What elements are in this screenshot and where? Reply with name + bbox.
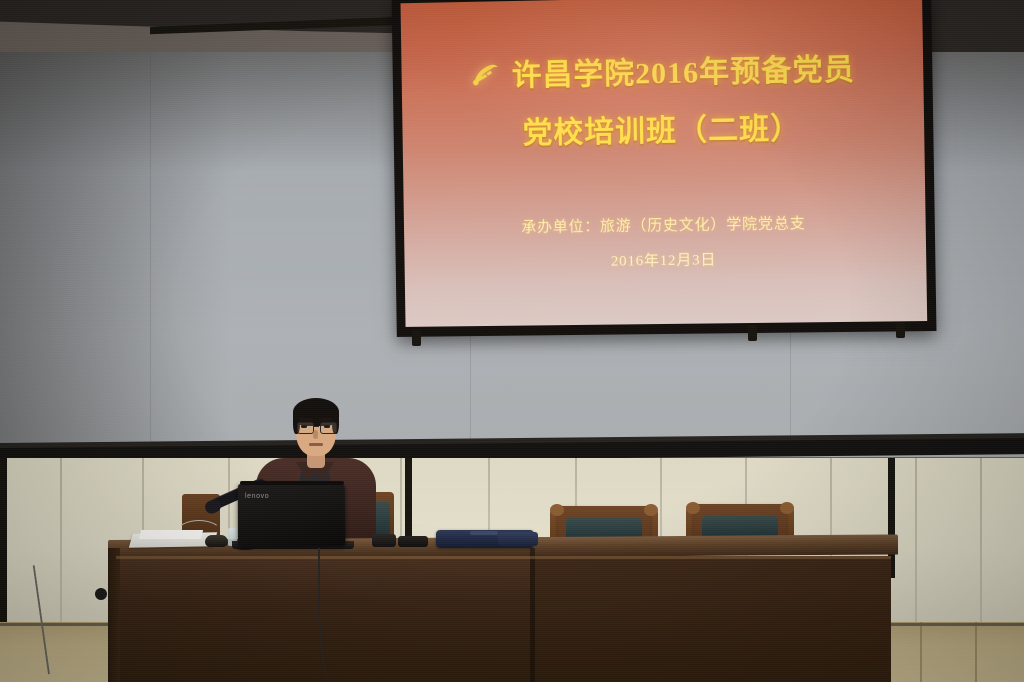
screen-mount-right: [896, 322, 905, 338]
screen-glare: [401, 0, 928, 327]
blue-bag-second: [498, 532, 538, 546]
computer-mouse: [205, 535, 228, 547]
chair-cap-left: [550, 504, 564, 516]
presenter-desk-left-side: [108, 548, 120, 682]
screen-mount-left: [412, 330, 421, 346]
presenter-remote[interactable]: [372, 534, 396, 547]
cable-connector: [95, 588, 107, 600]
presenter-nose: [313, 430, 318, 439]
blue-bag-strap: [470, 531, 498, 535]
projection-screen: 许昌学院2016年预备党员 党校培训班（二班） 承办单位：旅游（历史文化）学院党…: [401, 0, 928, 327]
photo-scene: 许昌学院2016年预备党员 党校培训班（二班） 承办单位：旅游（历史文化）学院党…: [0, 0, 1024, 682]
desk-device-secondary[interactable]: [398, 536, 428, 547]
presenter-eye-right: [324, 425, 330, 428]
pilaster-center: [405, 458, 412, 548]
presenter-desk-front-right: [530, 556, 891, 682]
desk-section-seam: [530, 548, 535, 682]
lenovo-logo: lenovo: [245, 493, 269, 500]
screen-mount-center: [748, 325, 757, 341]
projection-screen-frame: 许昌学院2016年预备党员 党校培训班（二班） 承办单位：旅游（历史文化）学院党…: [392, 0, 937, 337]
presenter-brow-left: [299, 418, 313, 421]
chair-cap-left: [686, 502, 700, 514]
laptop-hinge: [240, 481, 344, 485]
chair-cap-right: [644, 504, 658, 516]
presenter-eye-left: [301, 425, 307, 428]
desk-edge-highlight: [116, 556, 891, 559]
left-wall-shading: [0, 52, 230, 457]
chair-cap-right: [780, 502, 794, 514]
laptop[interactable]: lenovo: [238, 484, 346, 547]
presenter-mouth: [309, 443, 323, 446]
pilaster-left: [0, 458, 7, 638]
presenter-brow-right: [319, 418, 333, 421]
